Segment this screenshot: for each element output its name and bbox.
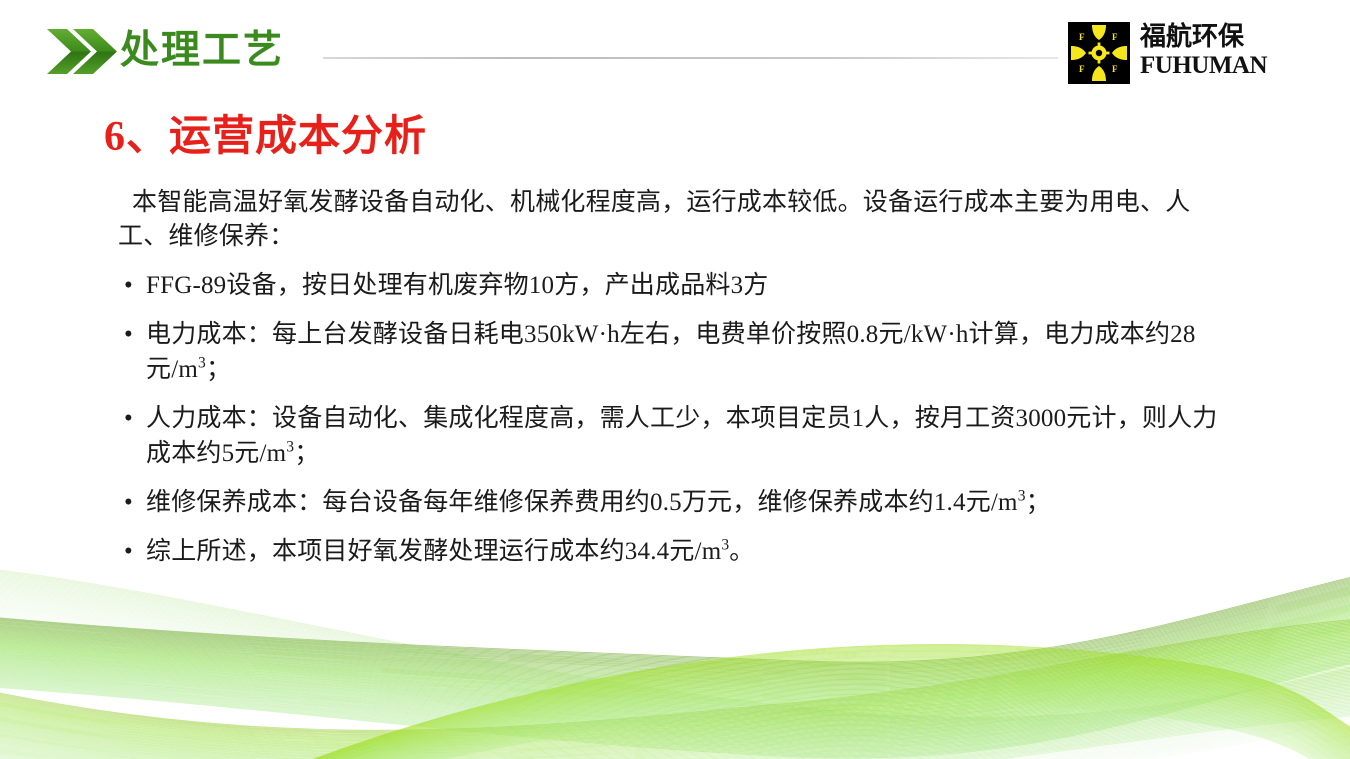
list-item-tail: ；: [206, 356, 231, 383]
double-chevron-right-icon: [47, 29, 119, 74]
page-title: 6、运营成本分析: [104, 102, 427, 163]
header-divider: [323, 57, 1058, 59]
list-item: • FFG-89设备，按日处理有机废弃物10方，产出成品料3方: [118, 268, 1233, 303]
logo-english-name: FUHUMAN: [1140, 52, 1264, 80]
green-ribbon-wave: [0, 559, 1350, 759]
bullet-marker: •: [124, 534, 133, 569]
slide-body: 本智能高温好氧发酵设备自动化、机械化程度高，运行成本较低。设备运行成本主要为用电…: [118, 186, 1233, 569]
intro-paragraph: 本智能高温好氧发酵设备自动化、机械化程度高，运行成本较低。设备运行成本主要为用电…: [118, 186, 1233, 254]
bullet-marker: •: [124, 317, 133, 352]
list-item-text: 维修保养成本：每台设备每年维修保养费用约0.5万元，维修保养成本约1.4元/m: [146, 489, 1018, 516]
list-item: • 综上所述，本项目好氧发酵处理运行成本约34.4元/m3。: [118, 534, 1233, 569]
svg-text:F: F: [1079, 32, 1085, 42]
company-logo: F F F F 福航环保 FUHUMAN: [1068, 22, 1263, 84]
logo-wordmark: 福航环保 FUHUMAN: [1140, 20, 1264, 80]
list-item-text: 综上所述，本项目好氧发酵处理运行成本约34.4元/m: [146, 538, 721, 565]
list-item-text: 电力成本：每上台发酵设备日耗电350kW·h左右，电费单价按照0.8元/kW·h…: [146, 321, 1196, 383]
list-item-tail: ；: [294, 440, 319, 467]
list-item-superscript: 3: [198, 355, 206, 372]
list-item-text: FFG-89设备，按日处理有机废弃物10方，产出成品料3方: [146, 272, 769, 299]
svg-text:F: F: [1112, 64, 1118, 74]
fuhuman-pinwheel-icon: F F F F: [1068, 22, 1130, 84]
list-item: • 维修保养成本：每台设备每年维修保养费用约0.5万元，维修保养成本约1.4元/…: [118, 485, 1233, 520]
list-item-tail: ；: [1026, 489, 1051, 516]
list-item-tail: 。: [729, 538, 754, 565]
svg-text:F: F: [1079, 64, 1085, 74]
list-item: • 电力成本：每上台发酵设备日耗电350kW·h左右，电费单价按照0.8元/kW…: [118, 317, 1233, 387]
list-item: • 人力成本：设备自动化、集成化程度高，需人工少，本项目定员1人，按月工资300…: [118, 401, 1233, 471]
header-title: 处理工艺: [120, 28, 284, 74]
bullet-marker: •: [124, 401, 133, 436]
bullet-marker: •: [124, 485, 133, 520]
slide-canvas: 处理工艺: [0, 0, 1350, 759]
list-item-superscript: 3: [1018, 488, 1026, 505]
logo-chinese-name: 福航环保: [1140, 20, 1264, 52]
bullet-marker: •: [124, 268, 133, 303]
svg-text:F: F: [1112, 32, 1118, 42]
